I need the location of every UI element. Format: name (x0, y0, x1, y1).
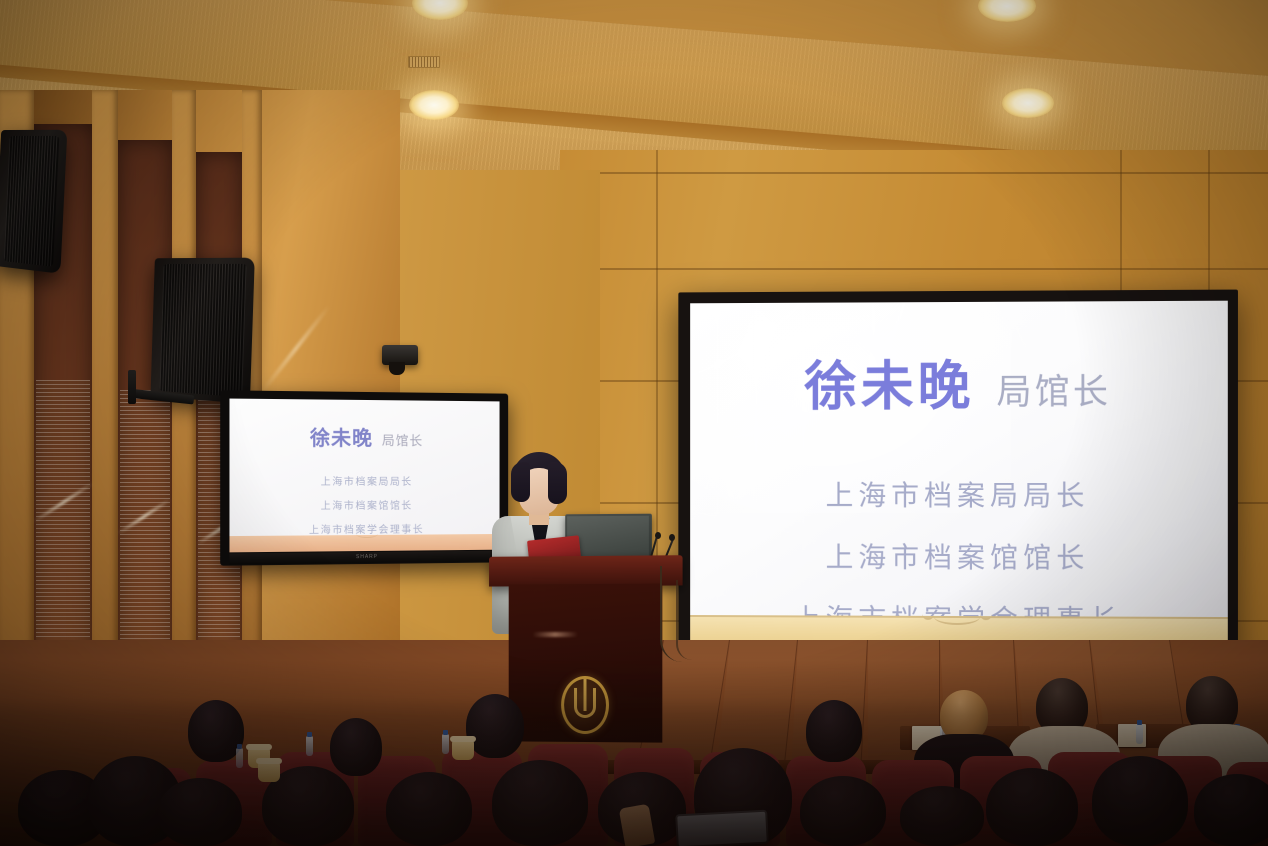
ceiling-downlight (409, 90, 459, 120)
monitor-affiliation-line: 上海市档案局局长 (321, 473, 413, 488)
podium-top-surface (489, 555, 683, 586)
ceiling-downlight (978, 0, 1036, 22)
wall-light-streak (260, 304, 331, 393)
audience-head (986, 768, 1078, 846)
tea-cup (258, 762, 280, 782)
monitor-brand-label: SHARP (356, 554, 378, 560)
audience-head (900, 786, 984, 846)
wall-loudspeaker (0, 130, 67, 274)
audience-head (800, 776, 886, 846)
water-bottle (442, 734, 449, 754)
speaker-mount-arm (128, 370, 136, 404)
audience-head (1194, 774, 1268, 846)
wall-loudspeaker (150, 258, 254, 404)
audience-head (806, 700, 862, 762)
podium-body (509, 584, 663, 743)
water-bottle (306, 736, 313, 756)
tea-cup (452, 740, 474, 760)
conference-hall-scene: 徐未晚 局馆长 上海市档案局局长 上海市档案馆馆长 上海市档案学会理事长 SHA… (0, 0, 1268, 846)
projection-screen-surface: 徐未晚 局馆长 上海市档案局局长 上海市档案馆馆长 上海市档案学会理事长 (690, 301, 1228, 656)
secondary-display: 徐未晚 局馆长 上海市档案局局长 上海市档案馆馆长 上海市档案学会理事长 SHA… (220, 390, 508, 565)
audience-head (158, 778, 242, 846)
podium-cable (676, 580, 692, 660)
monitor-speaker-role: 局馆长 (382, 430, 423, 449)
monitor-speaker-name: 徐未晚 (310, 422, 373, 451)
projection-screen: 徐未晚 局馆长 上海市档案局局长 上海市档案馆馆长 上海市档案学会理事长 (678, 290, 1238, 667)
audience-head (386, 772, 472, 846)
monitor-affiliation-list: 上海市档案局局长 上海市档案馆馆长 上海市档案学会理事长 (309, 473, 424, 536)
slide-affiliation-line: 上海市档案局局长 (826, 474, 1090, 514)
slide-affiliation-line: 上海市档案馆馆长 (826, 536, 1090, 577)
slide-title-row: 徐未晚 局馆长 (804, 343, 1111, 420)
slide-speaker-name: 徐未晚 (804, 344, 974, 420)
podium-microphone-head (655, 532, 661, 539)
monitor-bezel-chin: SHARP (229, 551, 499, 565)
water-bottle (1136, 724, 1143, 744)
audience-head (466, 694, 524, 758)
ceiling-camera-icon (382, 345, 418, 365)
slide-speaker-role: 局馆长 (996, 364, 1111, 415)
secondary-display-surface: 徐未晚 局馆长 上海市档案局局长 上海市档案馆馆长 上海市档案学会理事长 (229, 399, 499, 553)
monitor-affiliation-line: 上海市档案馆馆长 (321, 497, 413, 512)
university-seal-icon (561, 676, 609, 734)
water-bottle (236, 748, 243, 768)
monitor-slide-footer-band (229, 534, 499, 552)
ceiling-downlight (1002, 88, 1054, 118)
audience-head (492, 760, 588, 846)
audience-head (330, 718, 382, 776)
ceiling-air-vent (408, 56, 440, 68)
monitor-title-row: 徐未晚 局馆长 (310, 422, 423, 452)
smartphone[interactable] (675, 810, 769, 846)
slide-scallop-ornament (934, 609, 980, 625)
podium-microphone-head (669, 534, 675, 541)
audience-head (1092, 756, 1188, 846)
